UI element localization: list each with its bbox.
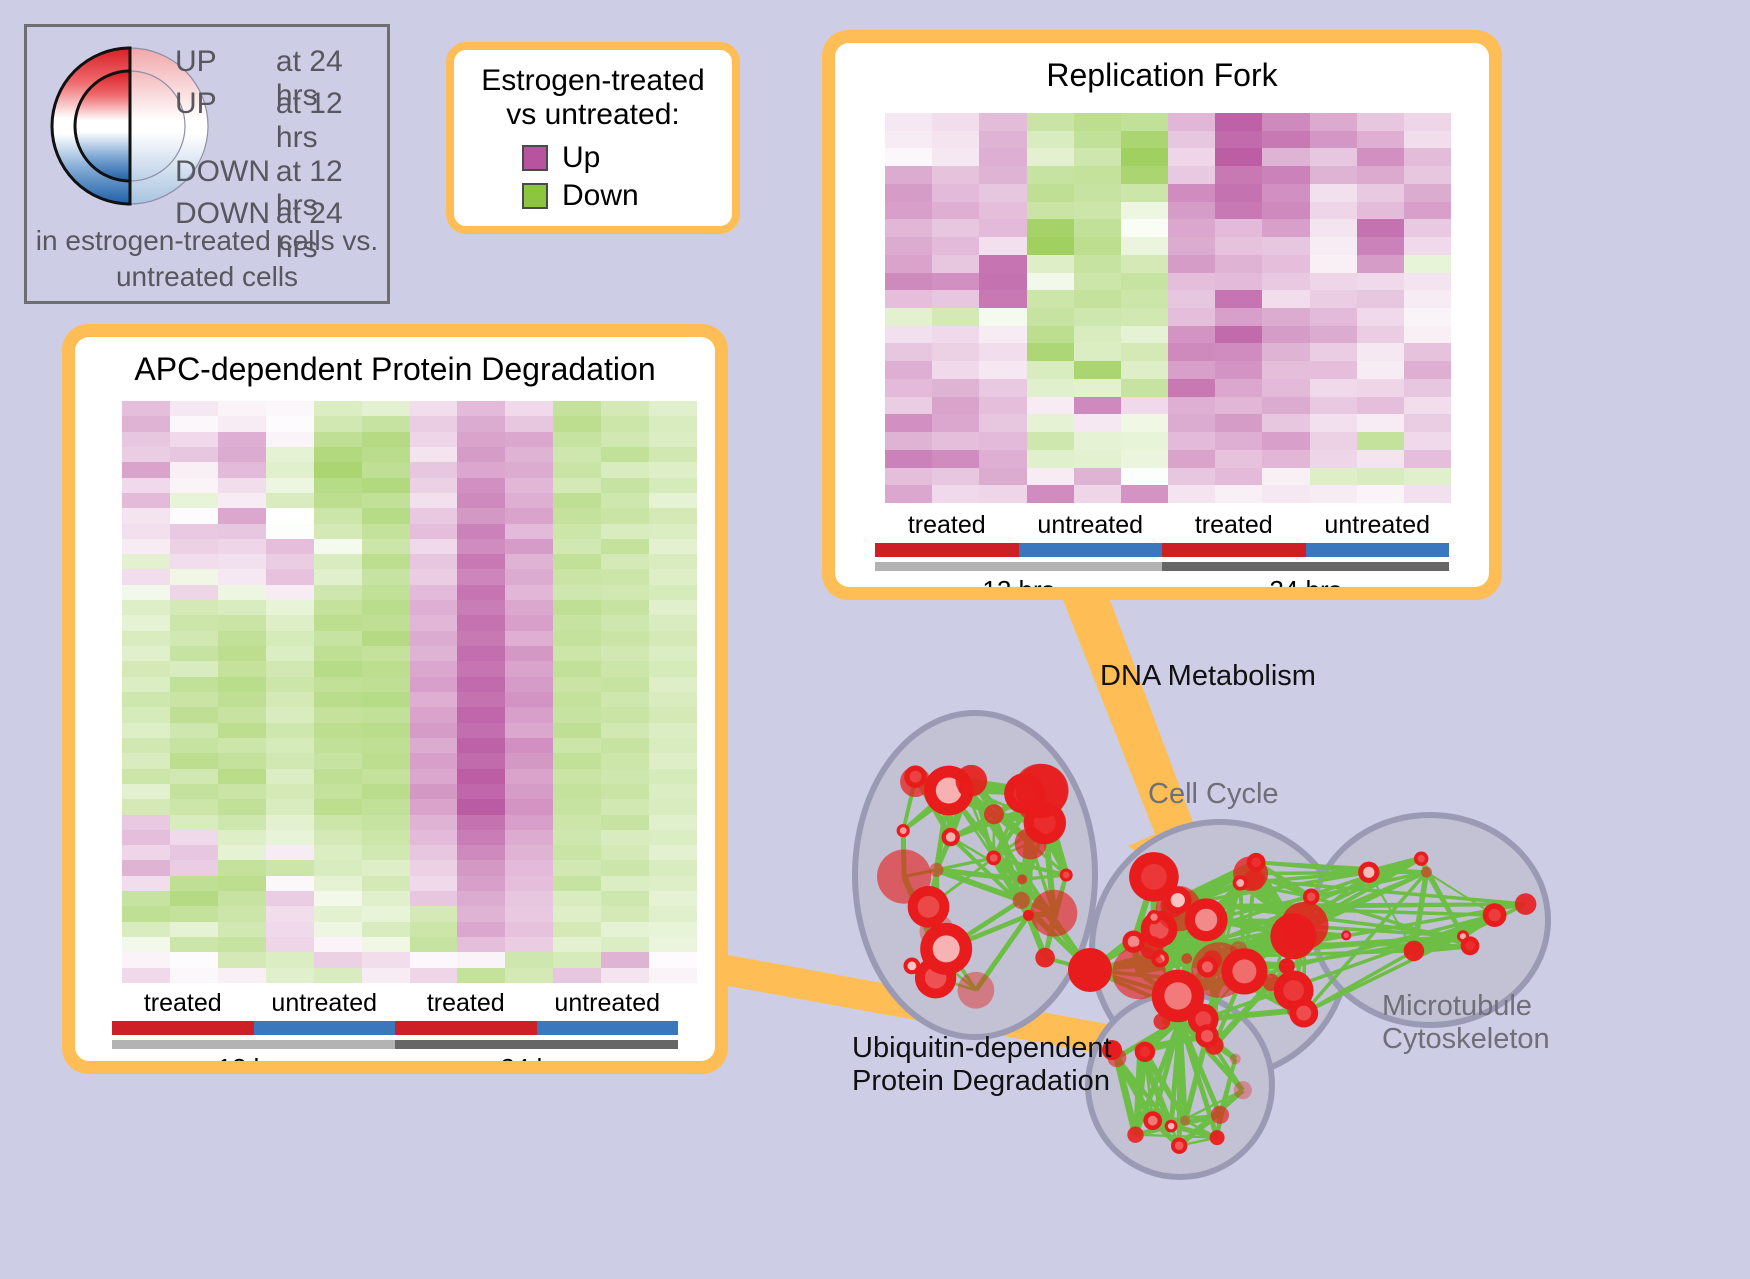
heatmap-cell [1074, 485, 1121, 503]
heatmap-cell [553, 784, 601, 799]
heatmap-cell [885, 485, 932, 503]
heatmap-cell [1074, 290, 1121, 308]
heatmap-cell [1357, 361, 1404, 379]
heatmap-cell [1215, 202, 1262, 220]
heatmap-cell [314, 631, 362, 646]
heatmap-cell [1357, 290, 1404, 308]
heatmap-cell [885, 219, 932, 237]
network-node[interactable] [1035, 948, 1055, 968]
heatmap-cell [362, 906, 410, 921]
heatmap-cell [932, 326, 979, 344]
heatmap-cell [649, 539, 697, 554]
heatmap-cell [218, 845, 266, 860]
group-bar [1306, 543, 1450, 557]
heatmap-cell [410, 646, 458, 661]
heatmap-cell [314, 845, 362, 860]
network-node[interactable] [900, 767, 930, 797]
heatmap-cell [410, 524, 458, 539]
heatmap-cell [218, 646, 266, 661]
heatmap-cell [1310, 308, 1357, 326]
heatmap-cell [553, 631, 601, 646]
network-node-inner [1251, 857, 1261, 867]
heatmap-cell [505, 952, 553, 967]
heatmap-cell [457, 661, 505, 676]
heatmap-cell [979, 131, 1026, 149]
heatmap-cell [1074, 255, 1121, 273]
heatmap-cell [885, 468, 932, 486]
heatmap-cell [314, 784, 362, 799]
heatmap-cell [1310, 361, 1357, 379]
heatmap-cell [553, 906, 601, 921]
heatmap-cell [457, 968, 505, 983]
time-label: 24 hrs [1162, 575, 1449, 587]
network-node[interactable] [877, 850, 931, 904]
heatmap-cell [885, 184, 932, 202]
heatmap-cell [170, 891, 218, 906]
heatmap-cell [885, 432, 932, 450]
heatmap-cell [1310, 184, 1357, 202]
heatmap-cell [505, 631, 553, 646]
cluster-label-ubiquitin: Ubiquitin-dependent Protein Degradation [852, 1032, 1112, 1099]
heatmap-cell [362, 600, 410, 615]
heatmap-cell [1168, 450, 1215, 468]
heatmap-cell [266, 585, 314, 600]
heatmap-cell [1357, 485, 1404, 503]
heatmap-cell [1121, 273, 1168, 291]
network-node[interactable] [1211, 1106, 1229, 1124]
heatmap-cell [649, 952, 697, 967]
heatmap-cell [1168, 237, 1215, 255]
heatmap-cell [885, 166, 932, 184]
heatmap-cell [1310, 485, 1357, 503]
heatmap-cell [553, 661, 601, 676]
network-node[interactable] [1263, 974, 1280, 991]
network-node-inner [1307, 893, 1316, 902]
heatmap-cell [170, 968, 218, 983]
heatmap-cell [649, 677, 697, 692]
heatmap-cell [362, 432, 410, 447]
heatmap-cell [649, 416, 697, 431]
heatmap-cell [601, 462, 649, 477]
heatmap-cell [170, 432, 218, 447]
heatmap-cell [122, 769, 170, 784]
heatmap-cell [1215, 273, 1262, 291]
heatmap-cell [122, 815, 170, 830]
heatmap-cell [410, 952, 458, 967]
network-node[interactable] [1154, 1013, 1171, 1030]
heatmap-cell [1357, 148, 1404, 166]
heatmap-cell [1027, 485, 1074, 503]
heatmap-cell [1121, 485, 1168, 503]
heatmap-cell [314, 692, 362, 707]
heatmap-cell [122, 845, 170, 860]
heatmap-cell [170, 677, 218, 692]
heatmap-cell [314, 707, 362, 722]
heatmap-cell [1215, 379, 1262, 397]
heatmap-cell [1121, 308, 1168, 326]
legend-item-up: Up [522, 139, 722, 177]
heatmap-cell [218, 738, 266, 753]
heatmap-cell [410, 845, 458, 860]
gene-function-network: DNA Metabolism Cell Cycle Microtubule Cy… [790, 620, 1750, 1279]
heatmap-cell [1121, 113, 1168, 131]
heatmap-cell [218, 508, 266, 523]
network-node-inner [962, 785, 969, 792]
updown-legend-items: Up Down [464, 139, 722, 215]
heatmap-cell [1168, 290, 1215, 308]
heatmap-cell [314, 539, 362, 554]
heatmap-cell [505, 876, 553, 891]
heatmap-cell [410, 707, 458, 722]
heatmap-cell [1357, 326, 1404, 344]
heatmap-cell [1310, 432, 1357, 450]
heatmap-cell [218, 707, 266, 722]
heatmap-cell [410, 569, 458, 584]
heatmap-cell [410, 401, 458, 416]
heatmap-cell [932, 219, 979, 237]
network-node-inner [1344, 933, 1349, 938]
group-bars-row [875, 543, 1449, 557]
network-node-inner [1201, 1030, 1213, 1042]
colorbar-row-key: DOWN [175, 155, 276, 189]
heatmap-cell [410, 815, 458, 830]
network-node-inner [900, 827, 907, 834]
heatmap-cell [1168, 468, 1215, 486]
heatmap-cell [649, 937, 697, 952]
heatmap-cell [1215, 326, 1262, 344]
heatmap-cell [122, 830, 170, 845]
heatmap-cell [314, 432, 362, 447]
heatmap-cell [553, 952, 601, 967]
heatmap-cell [1357, 414, 1404, 432]
heatmap-cell [553, 707, 601, 722]
colorbar-row: DOWN at 12 hrs [175, 155, 385, 197]
heatmap-cell [1404, 255, 1451, 273]
heatmap-cell [457, 631, 505, 646]
heatmap-cell [457, 799, 505, 814]
heatmap-cell [266, 723, 314, 738]
heatmap-cell [362, 968, 410, 983]
heatmap-cell [601, 677, 649, 692]
network-node-inner [933, 935, 960, 962]
group-labels-row: treateduntreatedtreateduntreated [112, 989, 678, 1018]
heatmap-cell [601, 508, 649, 523]
heatmap-cell [649, 860, 697, 875]
network-node[interactable] [1015, 828, 1047, 860]
heatmap-cell [1404, 414, 1451, 432]
heatmap-cell [362, 539, 410, 554]
heatmap-cell [218, 723, 266, 738]
network-node[interactable] [958, 972, 995, 1009]
group-label: treated [112, 989, 254, 1018]
heatmap-cell [122, 554, 170, 569]
heatmap-cell [362, 615, 410, 630]
heatmap-cell [932, 202, 979, 220]
group-bar [1162, 543, 1306, 557]
time-bar [112, 1040, 395, 1049]
heatmap-cell [932, 166, 979, 184]
heatmap-cell [601, 906, 649, 921]
network-node[interactable] [1404, 941, 1425, 962]
heatmap-cell [1215, 113, 1262, 131]
network-node[interactable] [1013, 892, 1030, 909]
heatmap-cell [649, 830, 697, 845]
heatmap-cell [649, 615, 697, 630]
network-node[interactable] [930, 863, 944, 877]
network-node[interactable] [1031, 890, 1078, 937]
heatmap-cell [1404, 361, 1451, 379]
heatmap-cell [1262, 326, 1309, 344]
heatmap-cell [122, 508, 170, 523]
heatmap-cell [362, 784, 410, 799]
heatmap-cell [1168, 343, 1215, 361]
network-node[interactable] [1210, 1130, 1225, 1145]
network-node[interactable] [1182, 953, 1193, 964]
network-node[interactable] [1421, 867, 1432, 878]
heatmap-cell [979, 397, 1026, 415]
heatmap-cell [1404, 113, 1451, 131]
network-node-inner [1164, 982, 1191, 1009]
network-node[interactable] [1068, 948, 1112, 992]
heatmap-cell [1121, 432, 1168, 450]
heatmap-cell [979, 432, 1026, 450]
heatmap-cell [170, 447, 218, 462]
heatmap-cell [457, 615, 505, 630]
heatmap-cell [362, 416, 410, 431]
heatmap-cell [1310, 290, 1357, 308]
heatmap-cell [122, 661, 170, 676]
heatmap-cell [1404, 468, 1451, 486]
network-node-inner [1488, 909, 1500, 921]
network-node-inner [1418, 855, 1425, 862]
heatmap-cell [218, 891, 266, 906]
group-label: untreated [1306, 511, 1450, 540]
heatmap-cell [1357, 255, 1404, 273]
network-node[interactable] [1127, 1127, 1143, 1143]
heatmap-cell [601, 416, 649, 431]
heatmap-cell [1357, 379, 1404, 397]
network-node[interactable] [984, 804, 1004, 824]
heatmap-cell [1027, 308, 1074, 326]
heatmap-cell [649, 799, 697, 814]
heatmap-cell [505, 600, 553, 615]
heatmap-cell [410, 876, 458, 891]
group-bar [254, 1021, 396, 1035]
heatmap-cell [979, 290, 1026, 308]
heatmap-cell [505, 524, 553, 539]
heatmap-cell [1262, 148, 1309, 166]
heatmap-cell [122, 478, 170, 493]
heatmap-cell [601, 769, 649, 784]
heatmap-cell [170, 585, 218, 600]
network-node[interactable] [1180, 1115, 1190, 1125]
heatmap-cell [362, 447, 410, 462]
heatmap-cell [553, 539, 601, 554]
heatmap-cell [1168, 202, 1215, 220]
network-node[interactable] [1234, 1081, 1252, 1099]
heatmap-cell [122, 462, 170, 477]
heatmap-cell [314, 769, 362, 784]
heatmap-cell [362, 401, 410, 416]
heatmap-cell [122, 631, 170, 646]
heatmap-cell [170, 661, 218, 676]
heatmap-cell [649, 876, 697, 891]
heatmap-cell [932, 237, 979, 255]
heatmap-cell [885, 290, 932, 308]
heatmap-cell [314, 447, 362, 462]
time-bar [395, 1040, 678, 1049]
heatmap-cell [218, 799, 266, 814]
heatmap-cell [314, 891, 362, 906]
heatmap-cell [1262, 113, 1309, 131]
heatmap-cell [1404, 148, 1451, 166]
heatmap-cell [1121, 450, 1168, 468]
heatmap-cell [979, 308, 1026, 326]
heatmap-cell [932, 308, 979, 326]
heatmap-cell [218, 478, 266, 493]
heatmap-cell [266, 769, 314, 784]
heatmap-cell [649, 447, 697, 462]
heatmap-cell [505, 661, 553, 676]
heatmap-cell [553, 646, 601, 661]
heatmap-cell [314, 937, 362, 952]
heatmap-cell [362, 723, 410, 738]
heatmap-cell [505, 569, 553, 584]
heatmap-cell [266, 508, 314, 523]
heatmap-cell [601, 968, 649, 983]
heatmap-cell [553, 830, 601, 845]
network-node[interactable] [1017, 874, 1027, 884]
heatmap-cell [1168, 219, 1215, 237]
heatmap-cell [457, 432, 505, 447]
heatmap-cell [314, 416, 362, 431]
heatmap-cell [1121, 148, 1168, 166]
heatmap-cell [314, 815, 362, 830]
heatmap-cell [1121, 343, 1168, 361]
network-node-inner [1128, 936, 1140, 948]
heatmap-cell [649, 508, 697, 523]
heatmap-cell [601, 646, 649, 661]
network-node[interactable] [1230, 1054, 1241, 1065]
network-node-inner [1168, 1123, 1175, 1130]
panel-apc-dependent-protein-degradation: APC-dependent Protein Degradation treate… [62, 324, 728, 1074]
heatmap-cell [932, 184, 979, 202]
heatmap-cell [1357, 343, 1404, 361]
heatmap-cell [362, 585, 410, 600]
heatmap-cell [170, 631, 218, 646]
heatmap-cell [649, 753, 697, 768]
panel-replication-fork: Replication Fork treateduntreatedtreated… [822, 30, 1502, 600]
network-node[interactable] [1019, 800, 1038, 819]
heatmap-cell [218, 432, 266, 447]
heatmap-cell [122, 799, 170, 814]
heatmap-cell [979, 148, 1026, 166]
heatmap-cell [553, 493, 601, 508]
heatmap-cell [218, 784, 266, 799]
heatmap-cell [170, 478, 218, 493]
heatmap-cell [170, 615, 218, 630]
heatmap-cell [505, 554, 553, 569]
heatmap-cell [266, 554, 314, 569]
heatmap-cell [1357, 308, 1404, 326]
heatmap-cell [410, 478, 458, 493]
heatmap-cell [1027, 468, 1074, 486]
heatmap-cell [1215, 397, 1262, 415]
heatmap-cell [410, 906, 458, 921]
heatmap-cell [553, 876, 601, 891]
heatmap-cell [1027, 219, 1074, 237]
time-bars-row [875, 562, 1449, 571]
heatmap-cell [1262, 184, 1309, 202]
heatmap-cell [1027, 450, 1074, 468]
heatmap-cell [314, 508, 362, 523]
heatmap-cell [122, 432, 170, 447]
heatmap-cell [1027, 131, 1074, 149]
network-node-inner [1363, 867, 1374, 878]
colorbar-row: UP at 24 hrs [175, 45, 385, 87]
heatmap-cell [218, 830, 266, 845]
heatmap-cell [649, 769, 697, 784]
heatmap-cell [1357, 450, 1404, 468]
heatmap-cell [1027, 255, 1074, 273]
heatmap-cell [553, 845, 601, 860]
network-node-inner [1236, 879, 1244, 887]
time-labels-row: 12 hrs24 hrs [112, 1053, 678, 1061]
heatmap-cell [1404, 166, 1451, 184]
heatmap-cell [218, 416, 266, 431]
heatmap-cell [1262, 397, 1309, 415]
heatmap-cell [218, 968, 266, 983]
time-label: 24 hrs [395, 1053, 678, 1061]
heatmap-cell [553, 860, 601, 875]
heatmap-cell [553, 769, 601, 784]
heatmap-cell [649, 631, 697, 646]
heatmap-cell [1357, 273, 1404, 291]
heatmap-cell [1215, 290, 1262, 308]
heatmap-cell [601, 600, 649, 615]
heatmap-cell [218, 524, 266, 539]
network-node[interactable] [1515, 893, 1537, 915]
heatmap-cell [266, 891, 314, 906]
time-bars-row [112, 1040, 678, 1049]
heatmap-cell [601, 493, 649, 508]
heatmap-annotation-apc: treateduntreatedtreateduntreated12 hrs24… [112, 989, 678, 1061]
heatmap-cell [457, 416, 505, 431]
heatmap-cell [266, 646, 314, 661]
heatmap-cell [505, 723, 553, 738]
heatmap-cell [1262, 255, 1309, 273]
heatmap-cell [170, 707, 218, 722]
heatmap-cell [932, 343, 979, 361]
heatmap-cell [266, 830, 314, 845]
heatmap-cell [979, 255, 1026, 273]
network-node-inner [1063, 872, 1070, 879]
heatmap-cell [1121, 361, 1168, 379]
heatmap-cell [979, 166, 1026, 184]
heatmap-cell [1310, 166, 1357, 184]
heatmap-cell [1357, 184, 1404, 202]
heatmap-cell [1215, 131, 1262, 149]
heatmap-cell [122, 738, 170, 753]
network-node[interactable] [1140, 936, 1164, 960]
network-node[interactable] [1281, 902, 1329, 950]
heatmap-cell [505, 815, 553, 830]
expression-colorbar-legend: UP at 24 hrs UP at 12 hrs DOWN at 12 hrs… [24, 24, 390, 304]
heatmap-cell [457, 493, 505, 508]
heatmap-cell [457, 401, 505, 416]
heatmap-cell [1404, 397, 1451, 415]
heatmap-cell [170, 554, 218, 569]
